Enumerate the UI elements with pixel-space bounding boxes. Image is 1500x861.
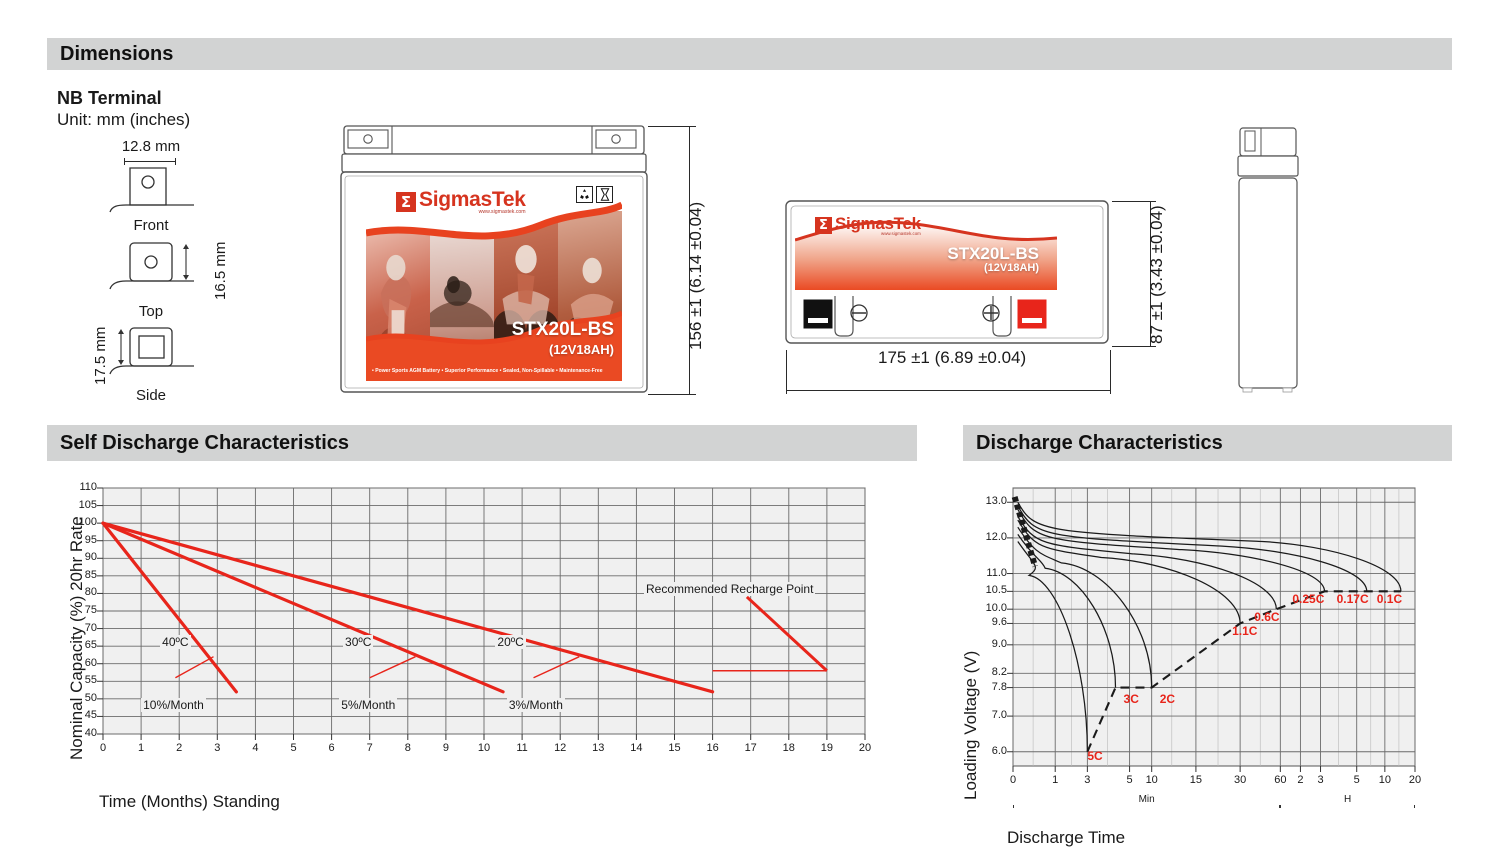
chart1-annotation: 40ºC	[160, 635, 190, 649]
brand-logo: Σ SigmasTek www.sigmastek.com	[396, 189, 526, 215]
terminal-front-label: Front	[96, 217, 206, 234]
dim-arrow-front	[124, 161, 176, 162]
chart2-curve-label: 0.17C	[1337, 592, 1369, 606]
self-discharge-chart: Nominal Capacity (%) 20hr Rate Time (Mon…	[47, 470, 917, 830]
chart2-curve-label: 2C	[1160, 692, 1175, 706]
chart1-annotation: 3%/Month	[507, 698, 565, 712]
chart2-plot	[955, 470, 1455, 810]
battery-front-label: Σ SigmasTek www.sigmastek.com STX20L-BS …	[366, 181, 622, 381]
model-name: STX20L-BS	[512, 319, 614, 341]
label-bullets: • Power Sports AGM Battery • Superior Pe…	[372, 368, 603, 374]
battery-end-outline	[1237, 126, 1299, 398]
discharge-chart: Loading Voltage (V) Discharge Time 13.01…	[955, 470, 1455, 850]
section-header-dimensions: Dimensions	[47, 38, 1452, 70]
chart2-curve-label: 3C	[1124, 692, 1139, 706]
terminal-top-label: Top	[96, 303, 206, 320]
terminal-front-shape	[108, 165, 228, 225]
chart2-curve-label: 1.1C	[1232, 624, 1257, 638]
section-header-discharge-label: Discharge Characteristics	[976, 432, 1223, 455]
dim-tick	[175, 158, 176, 165]
terminal-type-label: NB Terminal	[57, 88, 162, 109]
chart1-annotation: 5%/Month	[339, 698, 397, 712]
model-capacity: (12V18AH)	[984, 262, 1039, 274]
dimension-height-label: 156 ±1 (6.14 ±0.04)	[686, 202, 706, 350]
battery-side-view: Σ SigmasTek www.sigmastek.com STX20L-BS …	[785, 200, 1111, 346]
brand-name: SigmasTek	[419, 189, 526, 210]
chart1-annotation: 10%/Month	[141, 698, 206, 712]
chart2-range-bar: Min	[1013, 796, 1280, 808]
terminal-side-shape	[108, 325, 238, 387]
chart1-annotation: 30ºC	[343, 635, 373, 649]
dim-tick	[124, 158, 125, 165]
section-header-discharge: Discharge Characteristics	[963, 425, 1452, 461]
dimension-depth-label: 87 ±1 (3.43 ±0.04)	[1147, 205, 1167, 344]
chart2-xlabel: Discharge Time	[1007, 828, 1125, 848]
battery-front-view: Σ SigmasTek www.sigmastek.com STX20L-BS …	[340, 124, 648, 396]
terminal-side-dim: 17.5 mm	[92, 327, 109, 385]
section-header-self-discharge: Self Discharge Characteristics	[47, 425, 917, 461]
terminal-top-dim: 16.5 mm	[212, 242, 229, 300]
model-capacity: (12V18AH)	[549, 342, 614, 357]
chart2-range-label: Min	[1013, 794, 1280, 805]
battery-side-label: Σ SigmasTek www.sigmastek.com STX20L-BS …	[795, 210, 1057, 290]
brand-name: SigmasTek	[835, 215, 921, 232]
chart2-range-label: H	[1280, 794, 1415, 805]
chart2-curve-label: 0.25C	[1292, 592, 1324, 606]
model-name: STX20L-BS	[947, 244, 1039, 264]
hourglass-icon	[596, 186, 613, 203]
chart2-range-bar: H	[1280, 796, 1415, 808]
terminal-front-dim: 12.8 mm	[96, 138, 206, 155]
chart1-annotation: 20ºC	[495, 635, 525, 649]
chart2-curve-label: 0.6C	[1254, 610, 1279, 624]
chart1-annotation: Recommended Recharge Point	[644, 582, 815, 596]
chart2-curve-label: 5C	[1087, 749, 1102, 763]
sigma-mark: Σ	[815, 217, 832, 234]
battery-end-view	[1237, 126, 1299, 398]
chart2-curve-label: 0.1C	[1377, 592, 1402, 606]
recycle-icon	[576, 186, 593, 203]
dimension-width-label: 175 ±1 (6.89 ±0.04)	[878, 348, 1026, 368]
section-header-dimensions-label: Dimensions	[60, 43, 173, 66]
sigma-mark: Σ	[396, 192, 416, 212]
unit-label: Unit: mm (inches)	[57, 110, 190, 130]
brand-logo-side: Σ SigmasTek www.sigmastek.com	[815, 215, 921, 236]
terminal-side-label: Side	[96, 387, 206, 404]
section-header-self-discharge-label: Self Discharge Characteristics	[60, 432, 349, 455]
